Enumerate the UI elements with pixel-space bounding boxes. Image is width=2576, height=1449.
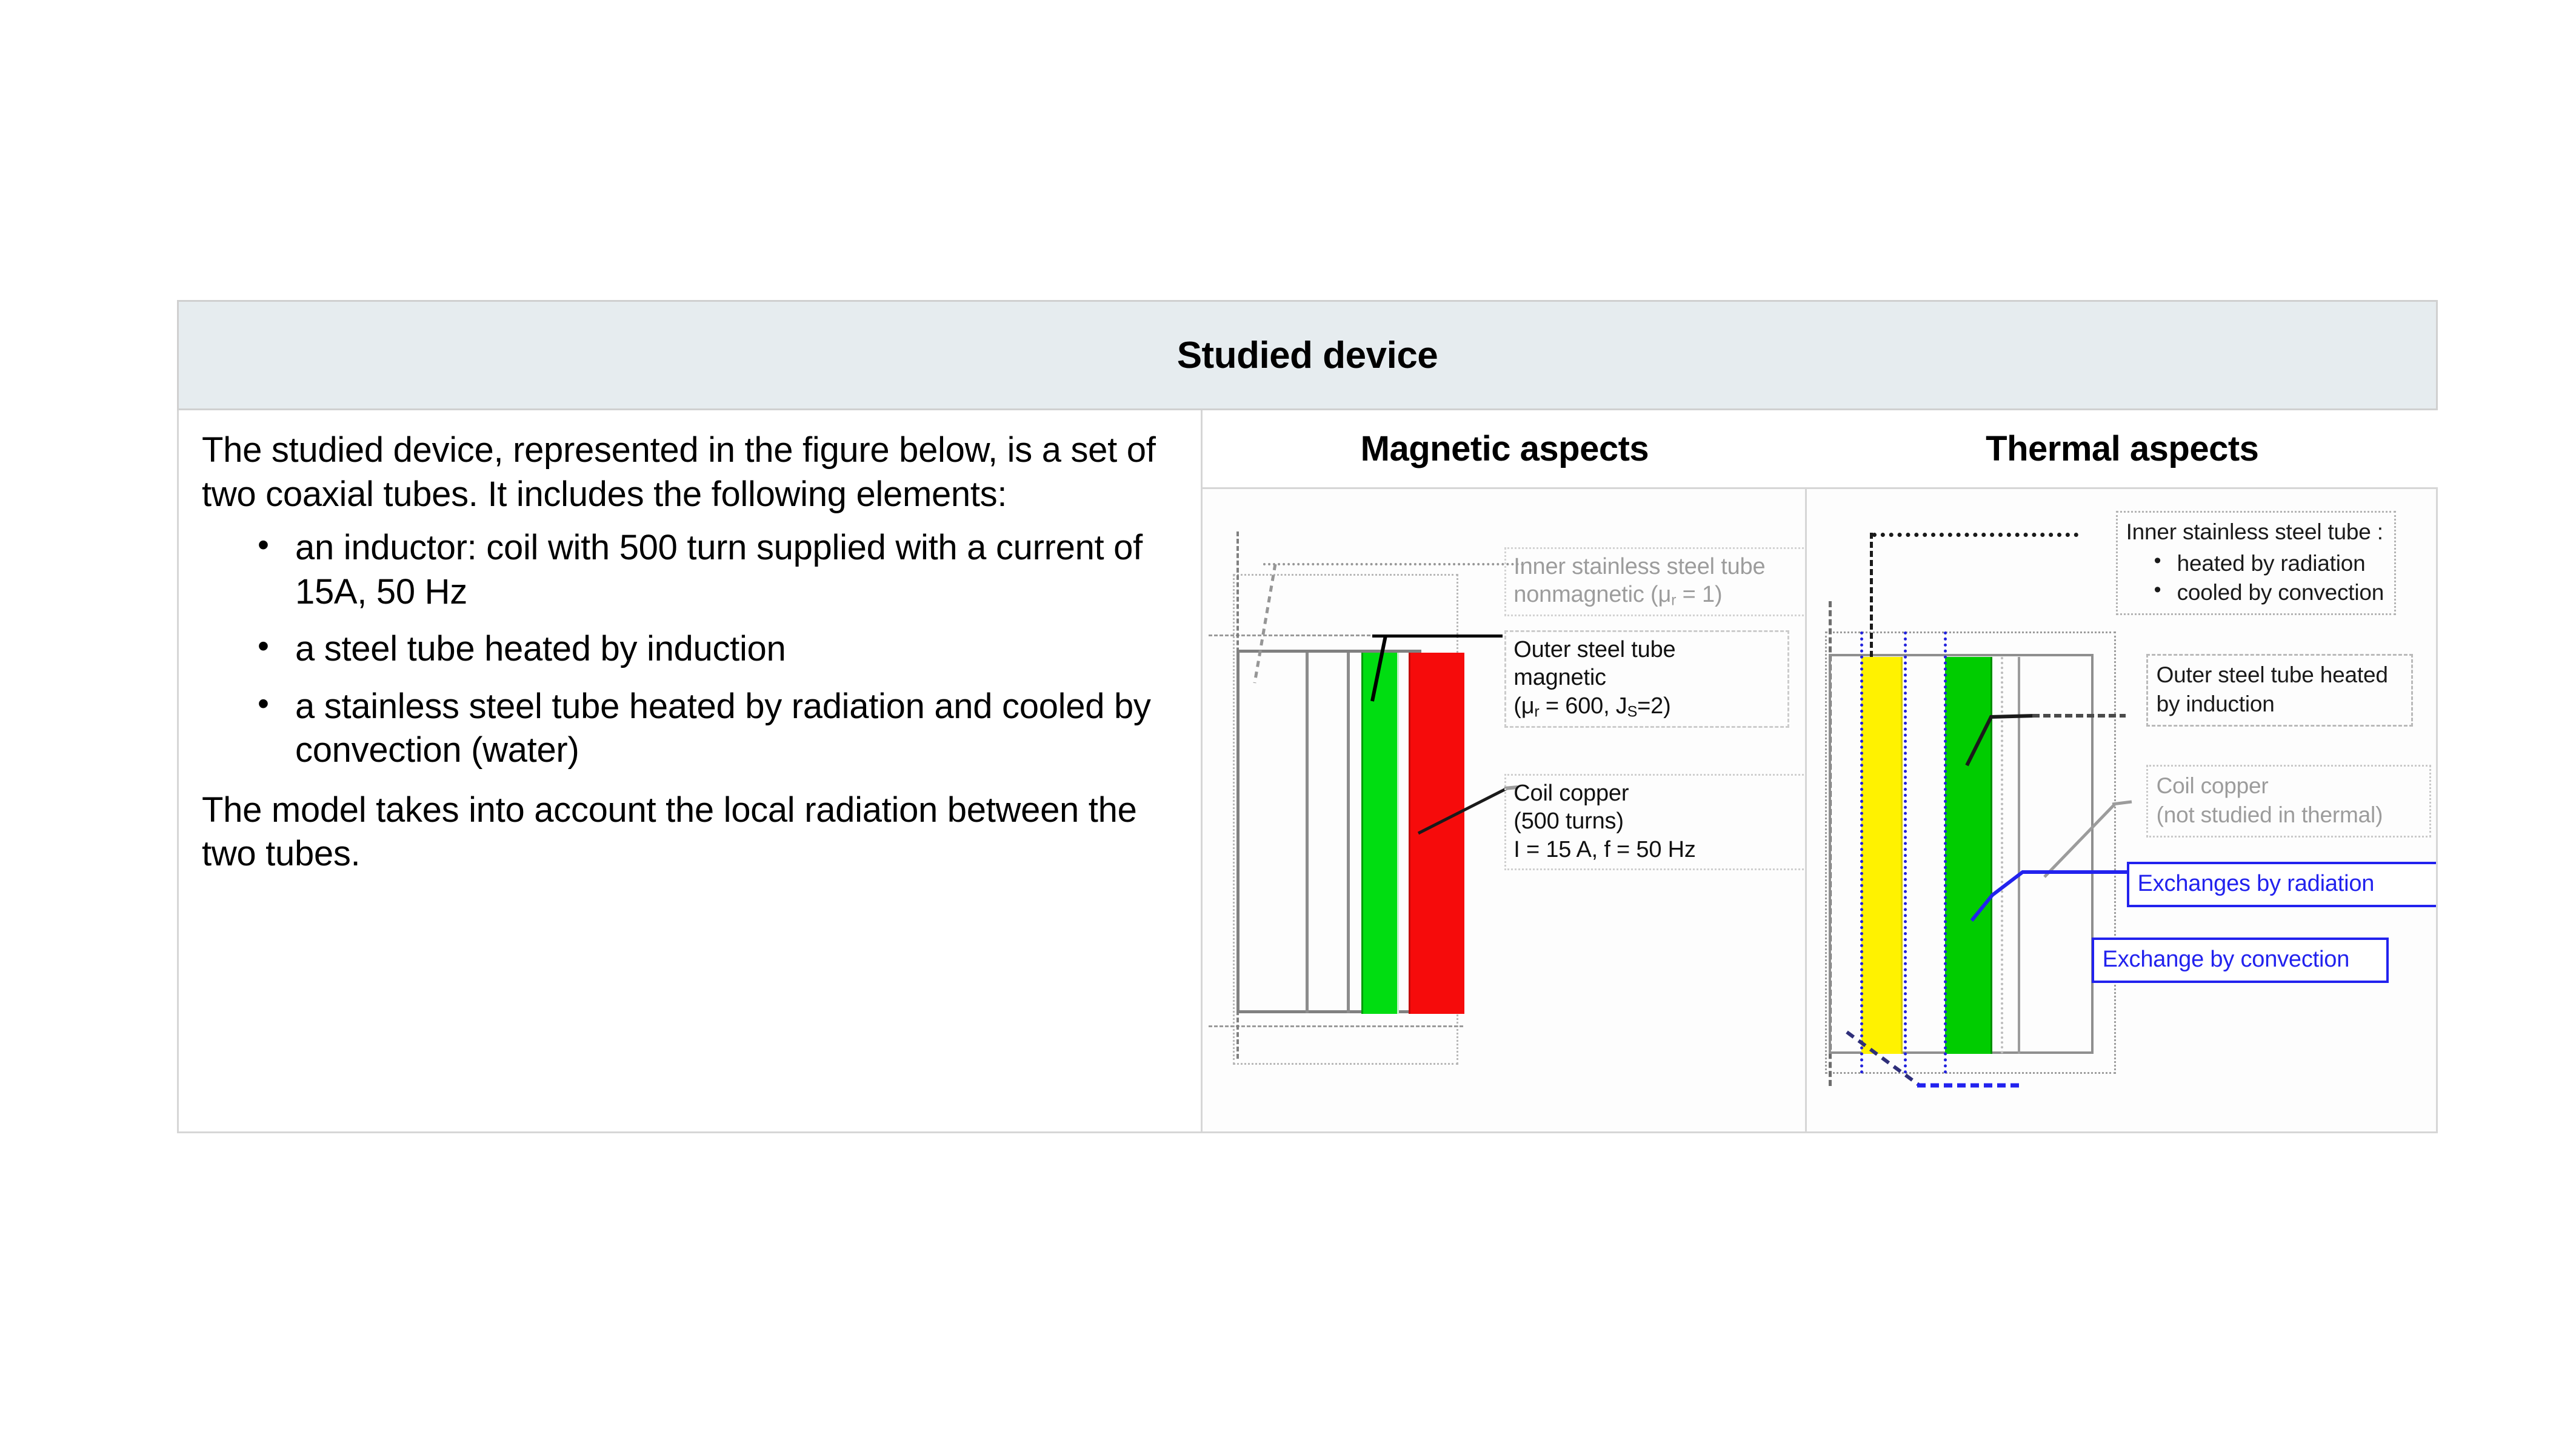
bullet-icon: • bbox=[2154, 547, 2161, 574]
bullet-icon: • bbox=[2154, 576, 2161, 603]
thermal-callout-coil-line1: Coil copper bbox=[2157, 771, 2423, 801]
thermal-leader-inner-tube bbox=[1872, 533, 2078, 537]
thermal-leader-outer-tube bbox=[1963, 708, 2121, 764]
list-item-label: an inductor: coil with 500 turn supplied… bbox=[295, 528, 1143, 611]
thermal-diagram: Inner stainless steel tube : • heated by… bbox=[1807, 489, 2436, 1131]
thermal-leader-convection bbox=[1841, 1027, 2107, 1112]
magnetic-figure-cell: Inner stainless steel tube nonmagnetic (… bbox=[1203, 489, 1806, 1133]
mu-subscript: r bbox=[1534, 703, 1539, 720]
magnetic-callout-inner-tube: Inner stainless steel tube nonmagnetic (… bbox=[1504, 547, 1804, 616]
magnetic-tube-wall-a bbox=[1306, 653, 1309, 1013]
thermal-callout-coil-line2: (not studied in thermal) bbox=[2157, 801, 2423, 830]
magnetic-diagram: Inner stainless steel tube nonmagnetic (… bbox=[1203, 489, 1804, 1131]
magnetic-leader-outer-tube bbox=[1372, 635, 1503, 638]
magnetic-callout-coil: Coil copper (500 turns) I = 15 A, f = 50… bbox=[1504, 774, 1804, 870]
page-title: Studied device bbox=[177, 300, 2438, 410]
list-item-label: a stainless steel tube heated by radiati… bbox=[295, 687, 1151, 770]
bullet-icon: • bbox=[258, 626, 269, 667]
list-item: • a stainless steel tube heated by radia… bbox=[258, 685, 1178, 773]
magnetic-leader-coil bbox=[1416, 784, 1513, 833]
thermal-callout-radiation: Exchanges by radiation bbox=[2127, 862, 2436, 907]
list-item-label: heated by radiation bbox=[2177, 551, 2366, 576]
js-subscript: S bbox=[1627, 703, 1638, 720]
list-item: • a steel tube heated by induction bbox=[258, 627, 1178, 671]
magnetic-callout-coil-line1: Coil copper bbox=[1513, 779, 1800, 807]
column-header-magnetic: Magnetic aspects bbox=[1203, 410, 1806, 489]
magnetic-leader-inner-tube-diagonal bbox=[1252, 563, 1276, 684]
thermal-exchange-boundary-1 bbox=[1860, 631, 1863, 1074]
list-item-label: a steel tube heated by induction bbox=[295, 629, 786, 668]
description-outro: The model takes into account the local r… bbox=[202, 788, 1178, 876]
thermal-inner-stainless-tube-shape bbox=[1861, 657, 1903, 1054]
thermal-callout-outer-tube-line2: by induction bbox=[2157, 690, 2405, 719]
magnetic-callout-inner-tube-line1: Inner stainless steel tube bbox=[1513, 553, 1800, 581]
magnetic-leader-inner-tube bbox=[1263, 563, 1524, 565]
thermal-leader-radiation bbox=[1955, 830, 2131, 919]
thermal-figure-cell: Inner stainless steel tube : • heated by… bbox=[1807, 489, 2438, 1133]
device-elements-list: • an inductor: coil with 500 turn suppli… bbox=[202, 526, 1178, 773]
table-body-row: The studied device, represented in the f… bbox=[177, 410, 2438, 489]
magnetic-callout-outer-tube-line3: (μr = 600, JS=2) bbox=[1513, 692, 1781, 721]
page-root: Studied device The studied device, repre… bbox=[0, 0, 2576, 1449]
thermal-exchange-boundary-2 bbox=[1904, 631, 1907, 1074]
thermal-callout-convection: Exchange by convection bbox=[2092, 938, 2389, 983]
thermal-exchange-boundary-3 bbox=[1944, 631, 1947, 1074]
thermal-callout-radiation-label: Exchanges by radiation bbox=[2138, 869, 2430, 899]
thermal-callout-convection-label: Exchange by convection bbox=[2103, 945, 2380, 974]
studied-device-table: Studied device The studied device, repre… bbox=[177, 300, 2438, 1133]
thermal-leader-inner-tube-vertical bbox=[1870, 533, 1873, 657]
magnetic-outer-steel-tube-shape bbox=[1361, 653, 1399, 1014]
thermal-callout-inner-tube: Inner stainless steel tube : • heated by… bbox=[2116, 511, 2396, 615]
list-item: • an inductor: coil with 500 turn suppli… bbox=[258, 526, 1178, 614]
table-header-row: Studied device bbox=[177, 300, 2438, 410]
description-intro: The studied device, represented in the f… bbox=[202, 428, 1178, 516]
magnetic-callout-coil-line2: (500 turns) bbox=[1513, 807, 1800, 835]
magnetic-callout-outer-tube: Outer steel tube magnetic (μr = 600, JS=… bbox=[1504, 630, 1789, 728]
bullet-icon: • bbox=[258, 684, 269, 725]
magnetic-callout-outer-tube-line1: Outer steel tube bbox=[1513, 636, 1781, 664]
magnetic-bottom-dashed-line bbox=[1209, 1025, 1463, 1027]
column-header-thermal: Thermal aspects bbox=[1807, 410, 2438, 489]
list-item: • cooled by convection bbox=[2154, 578, 2388, 607]
magnetic-callout-outer-tube-line2: magnetic bbox=[1513, 664, 1781, 691]
description-cell: The studied device, represented in the f… bbox=[177, 410, 1203, 1133]
list-item: • heated by radiation bbox=[2154, 549, 2388, 578]
thermal-callout-inner-tube-list: • heated by radiation • cooled by convec… bbox=[2126, 549, 2388, 607]
thermal-callout-outer-tube-line1: Outer steel tube heated bbox=[2157, 661, 2405, 690]
thermal-callout-outer-tube: Outer steel tube heated by induction bbox=[2146, 654, 2413, 727]
magnetic-callout-inner-tube-line2: nonmagnetic (μr = 1) bbox=[1513, 581, 1800, 610]
magnetic-leader-outer-tube-diagonal bbox=[1370, 635, 1386, 700]
magnetic-tube-wall-b bbox=[1347, 653, 1350, 1013]
magnetic-callout-coil-line3: I = 15 A, f = 50 Hz bbox=[1513, 836, 1800, 864]
thermal-callout-coil: Coil copper (not studied in thermal) bbox=[2146, 765, 2431, 838]
thermal-callout-inner-tube-title: Inner stainless steel tube : bbox=[2126, 518, 2388, 547]
list-item-label: cooled by convection bbox=[2177, 580, 2384, 605]
bullet-icon: • bbox=[258, 525, 269, 566]
